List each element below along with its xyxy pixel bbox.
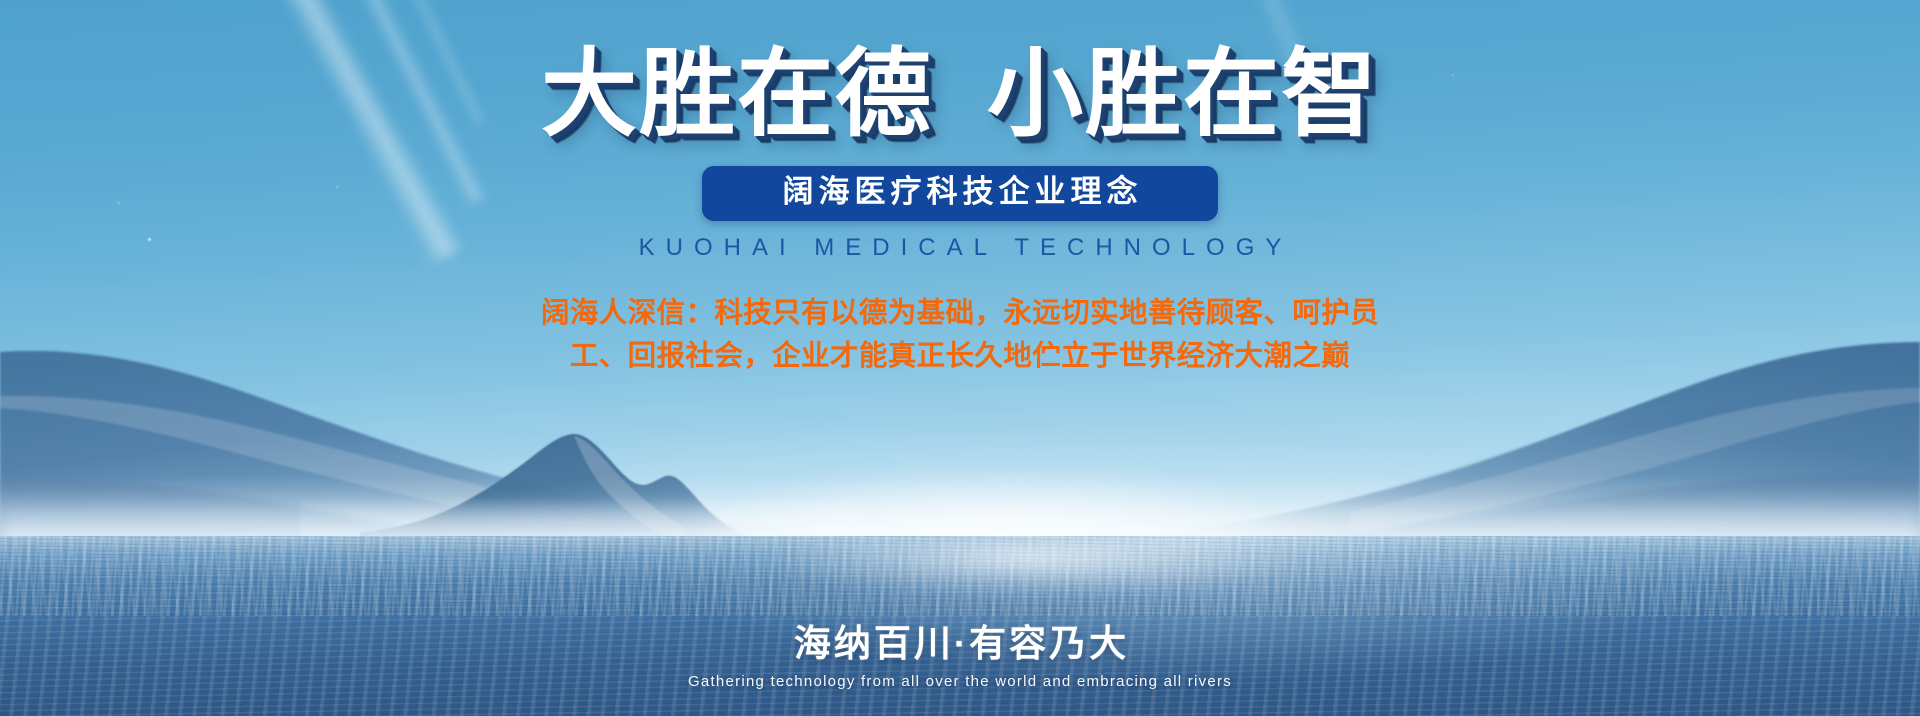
headline-left: 大胜在德	[541, 46, 933, 144]
headline-right: 小胜在智	[987, 46, 1379, 144]
motto-chinese: 海纳百川·有容乃大	[791, 623, 1129, 666]
bottom-motto: 海纳百川·有容乃大 Gathering technology from all …	[0, 623, 1920, 690]
concept-badge: 阔海医疗科技企业理念	[702, 166, 1218, 221]
concept-badge-label: 阔海医疗科技企业理念	[778, 176, 1143, 207]
badge-wrapper: 阔海医疗科技企业理念	[702, 166, 1218, 221]
motto-english: Gathering technology from all over the w…	[688, 673, 1232, 690]
headline: 大胜在德 小胜在智	[541, 46, 1379, 144]
promo-banner: 大胜在德 小胜在智 阔海医疗科技企业理念 KUOHAI MEDICAL TECH…	[0, 0, 1920, 716]
english-subtitle: KUOHAI MEDICAL TECHNOLOGY	[628, 234, 1293, 262]
statement-line-1: 阔海人深信：科技只有以德为基础，永远切实地善待顾客、呵护员	[541, 292, 1379, 335]
banner-content: 大胜在德 小胜在智 阔海医疗科技企业理念 KUOHAI MEDICAL TECH…	[0, 0, 1920, 716]
statement-line-2: 工、回报社会，企业才能真正长久地伫立于世界经济大潮之巅	[541, 335, 1379, 378]
company-statement: 阔海人深信：科技只有以德为基础，永远切实地善待顾客、呵护员 工、回报社会，企业才…	[541, 292, 1379, 379]
